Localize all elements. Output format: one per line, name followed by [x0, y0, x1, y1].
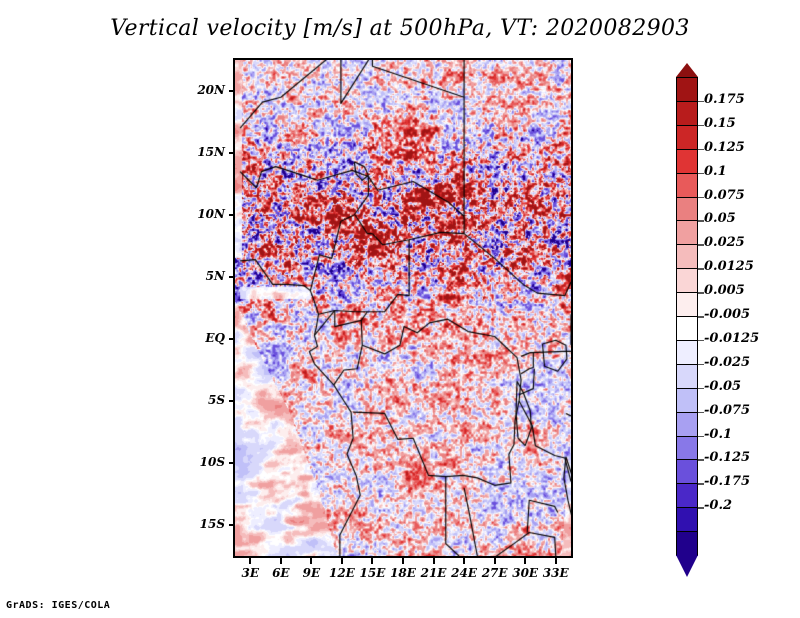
colorbar-segment: [676, 149, 698, 174]
colorbar-segment: [676, 173, 698, 198]
colorbar: 0.1750.150.1250.10.0750.050.0250.01250.0…: [676, 63, 698, 555]
colorbar-tick: [698, 459, 704, 461]
colorbar-label: 0.175: [704, 92, 745, 107]
colorbar-segment: [676, 340, 698, 365]
colorbar-label: -0.005: [704, 307, 750, 322]
colorbar-tick: [698, 149, 704, 151]
colorbar-segment: [676, 268, 698, 293]
colorbar-segment: [676, 388, 698, 413]
colorbar-label: 0.005: [704, 283, 745, 298]
longitude-tick: [371, 558, 373, 564]
colorbar-segment: [676, 364, 698, 389]
colorbar-label: 0.075: [704, 188, 745, 203]
colorbar-segment: [676, 412, 698, 437]
colorbar-tick: [698, 101, 704, 103]
colorbar-label: -0.2: [704, 498, 732, 513]
colorbar-tick: [698, 173, 704, 175]
colorbar-tick: [698, 436, 704, 438]
colorbar-segment: [676, 316, 698, 341]
colorbar-segment: [676, 531, 698, 556]
colorbar-label: -0.025: [704, 355, 750, 370]
latitude-tick: [229, 338, 235, 340]
colorbar-tick: [698, 483, 704, 485]
colorbar-label: 0.125: [704, 140, 745, 155]
colorbar-tick: [698, 268, 704, 270]
colorbar-tick: [698, 292, 704, 294]
colorbar-tick: [698, 364, 704, 366]
latitude-tick: [229, 400, 235, 402]
colorbar-label: 0.1: [704, 164, 727, 179]
colorbar-segment: [676, 436, 698, 461]
latitude-label: 20N: [183, 83, 225, 97]
colorbar-tick: [698, 412, 704, 414]
latitude-tick: [229, 462, 235, 464]
colorbar-segment: [676, 292, 698, 317]
credit-label: GrADS: IGES/COLA: [6, 600, 110, 611]
colorbar-tick: [698, 507, 704, 509]
vertical-velocity-heatmap: [235, 60, 571, 556]
longitude-tick: [310, 558, 312, 564]
colorbar-tick: [698, 316, 704, 318]
longitude-tick: [463, 558, 465, 564]
latitude-tick: [229, 524, 235, 526]
colorbar-label: 0.05: [704, 211, 736, 226]
colorbar-segment: [676, 507, 698, 532]
latitude-label: 15N: [183, 145, 225, 159]
colorbar-label: -0.175: [704, 474, 750, 489]
longitude-tick: [494, 558, 496, 564]
map-plot-area: [233, 58, 573, 558]
colorbar-segment: [676, 77, 698, 102]
colorbar-label: -0.0125: [704, 331, 759, 346]
longitude-tick: [402, 558, 404, 564]
colorbar-tick: [698, 197, 704, 199]
latitude-tick: [229, 152, 235, 154]
longitude-tick: [433, 558, 435, 564]
colorbar-segment: [676, 220, 698, 245]
colorbar-label: 0.0125: [704, 259, 754, 274]
latitude-label: 15S: [183, 517, 225, 531]
latitude-label: 5N: [183, 269, 225, 283]
latitude-tick: [229, 276, 235, 278]
colorbar-label: -0.1: [704, 427, 732, 442]
colorbar-segment: [676, 101, 698, 126]
latitude-label: 5S: [183, 393, 225, 407]
colorbar-label: 0.15: [704, 116, 736, 131]
colorbar-label: 0.025: [704, 235, 745, 250]
longitude-tick: [249, 558, 251, 564]
latitude-label: 10N: [183, 207, 225, 221]
colorbar-segment: [676, 197, 698, 222]
colorbar-segment: [676, 483, 698, 508]
longitude-tick: [341, 558, 343, 564]
colorbar-segment: [676, 125, 698, 150]
colorbar-tick: [698, 388, 704, 390]
latitude-label: EQ: [183, 331, 225, 345]
colorbar-segment: [676, 459, 698, 484]
colorbar-label: -0.125: [704, 450, 750, 465]
longitude-tick: [555, 558, 557, 564]
longitude-label: 33E: [536, 566, 576, 580]
longitude-tick: [280, 558, 282, 564]
latitude-tick: [229, 90, 235, 92]
longitude-tick: [524, 558, 526, 564]
colorbar-top-cap: [676, 63, 698, 77]
latitude-label: 10S: [183, 455, 225, 469]
colorbar-label: -0.075: [704, 403, 750, 418]
colorbar-tick: [698, 340, 704, 342]
colorbar-label: -0.05: [704, 379, 741, 394]
colorbar-segment: [676, 244, 698, 269]
colorbar-bottom-cap: [676, 555, 698, 577]
colorbar-tick: [698, 244, 704, 246]
colorbar-tick: [698, 125, 704, 127]
page-title: Vertical velocity [m/s] at 500hPa, VT: 2…: [0, 16, 800, 41]
latitude-tick: [229, 214, 235, 216]
colorbar-tick: [698, 220, 704, 222]
